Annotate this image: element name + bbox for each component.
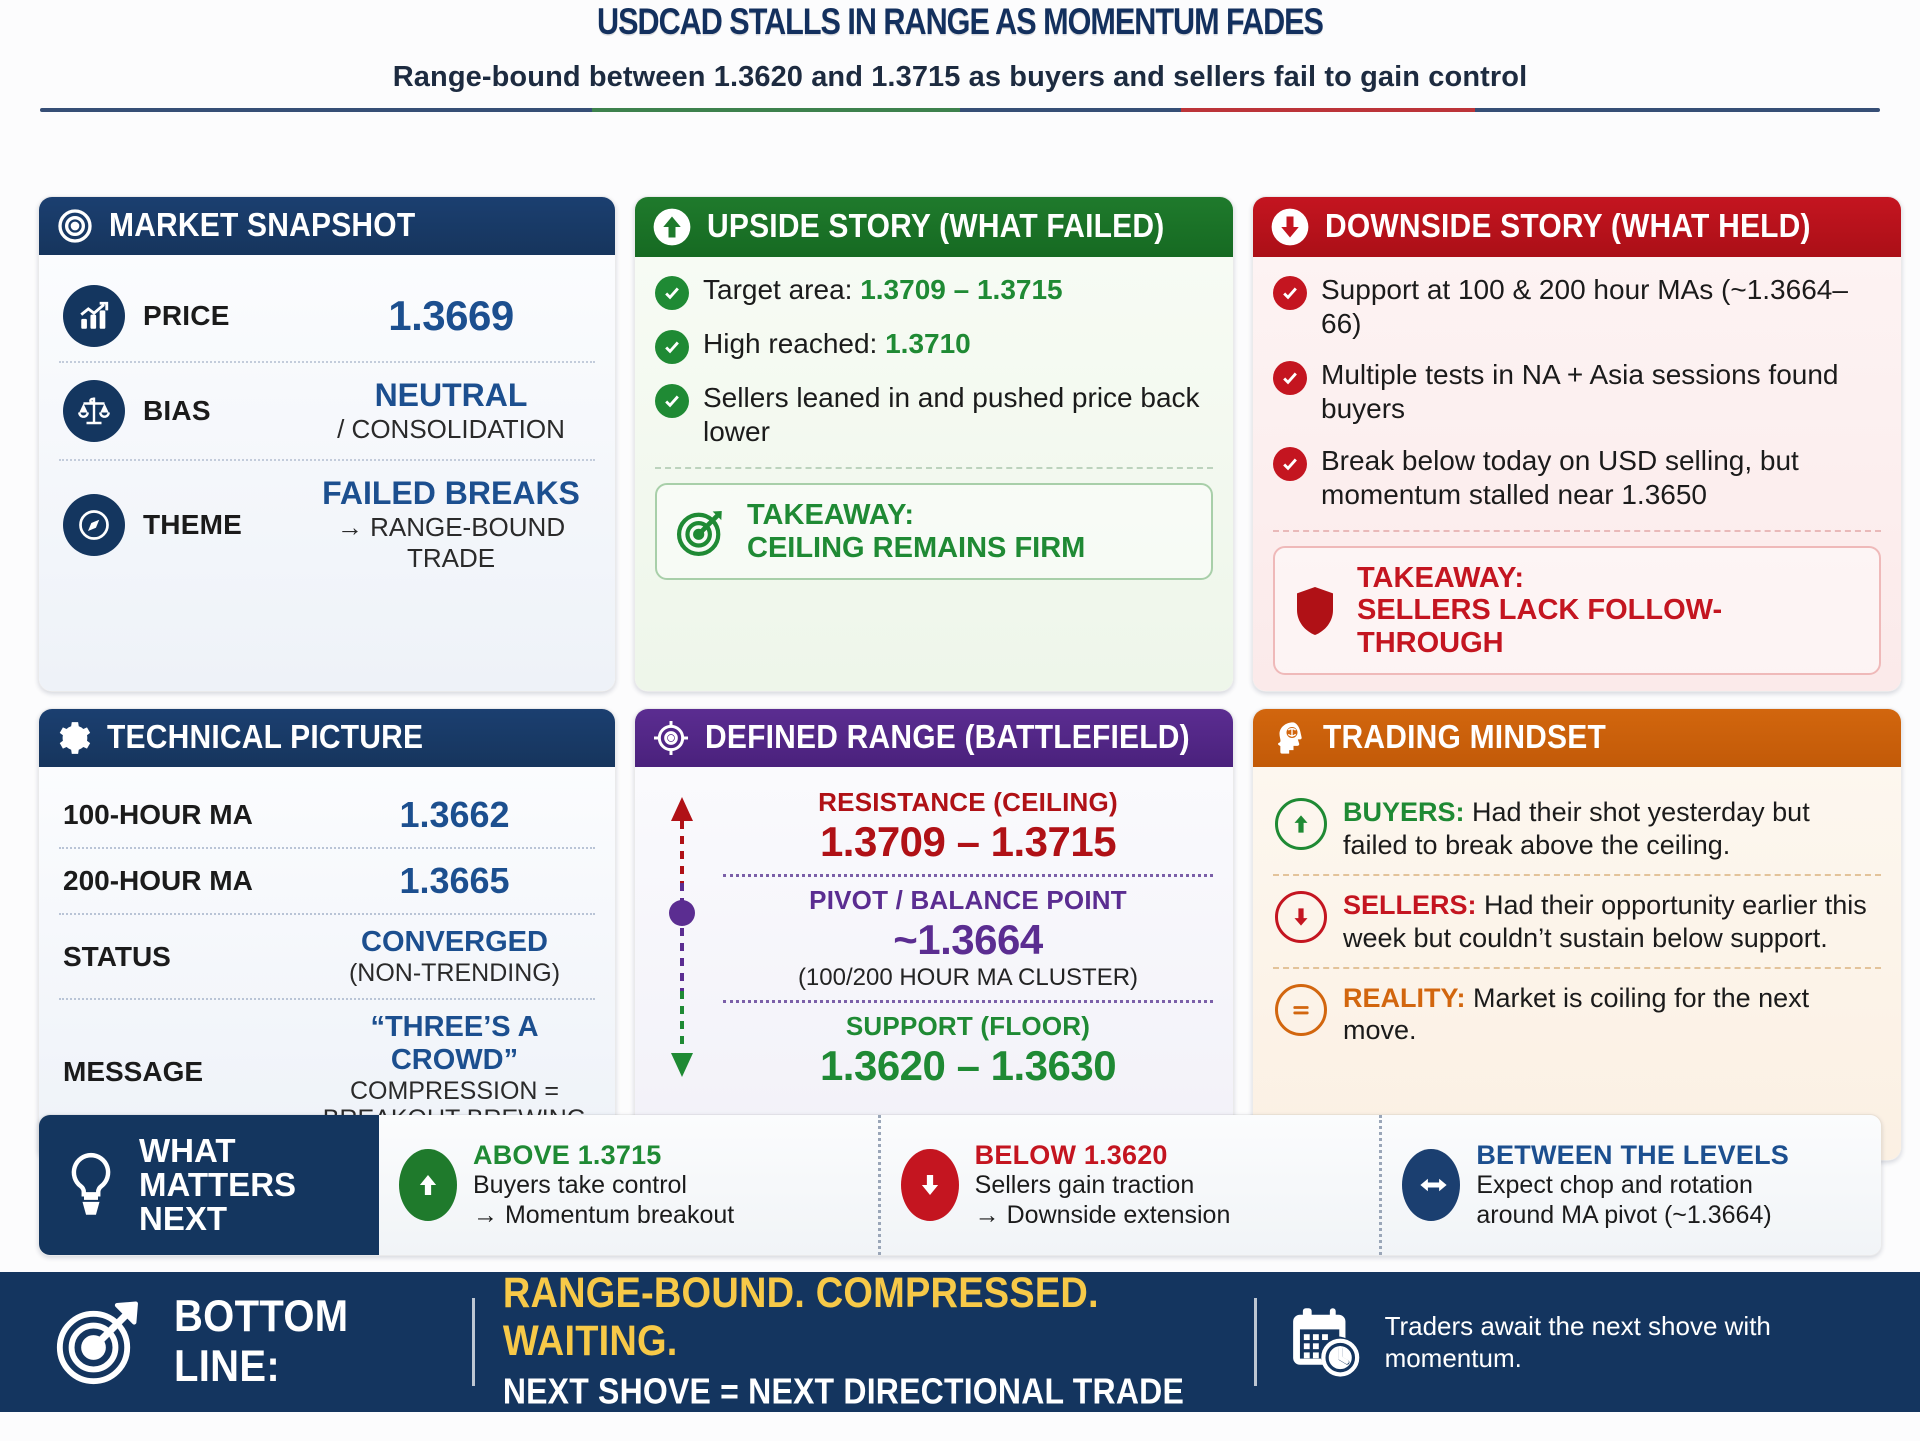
mindset-text-sellers: SELLERS: Had their opportunity earlier t…	[1343, 889, 1879, 954]
target-arrow-icon	[673, 504, 729, 560]
divider	[655, 467, 1213, 469]
row-key: STATUS	[63, 941, 318, 973]
card-downside-story: DOWNSIDE STORY (WHAT HELD) Support at 10…	[1252, 196, 1902, 692]
range-axis	[655, 787, 709, 1090]
wmn-item-below: BELOW 1.3620 Sellers gain traction → Dow…	[878, 1115, 1380, 1255]
list-item: Break below today on USD selling, but mo…	[1273, 444, 1881, 512]
what-matters-next-items: ABOVE 1.3715 Buyers take control → Momen…	[379, 1115, 1881, 1255]
card-title-trading-mindset: TRADING MINDSET	[1323, 720, 1606, 757]
arrow-down-icon	[1275, 891, 1327, 943]
card-title-defined-range: DEFINED RANGE (BATTLEFIELD)	[705, 720, 1190, 757]
row-value: CONVERGED (NON-TRENDING)	[318, 926, 591, 987]
bias-value: NEUTRAL	[311, 377, 591, 414]
bottom-line-main: RANGE-BOUND. COMPRESSED. WAITING. NEXT S…	[503, 1275, 1226, 1410]
check-icon	[1273, 276, 1307, 310]
list-item-text: Target area: 1.3709 – 1.3715	[703, 273, 1063, 307]
range-resistance: RESISTANCE (CEILING) 1.3709 – 1.3715	[723, 787, 1213, 866]
card-header-defined-range: DEFINED RANGE (BATTLEFIELD)	[635, 709, 1233, 767]
shield-icon	[1291, 584, 1339, 638]
bottom-line-note: Traders await the next shove with moment…	[1385, 1310, 1868, 1375]
bottom-line-label: BOTTOM LINE:	[174, 1292, 444, 1393]
arrow-down-circle-icon	[1269, 206, 1311, 248]
card-body-trading-mindset: BUYERS: Had their shot yesterday but fai…	[1253, 767, 1901, 1160]
card-technical-picture: TECHNICAL PICTURE 100-HOUR MA 1.3662 200…	[38, 708, 616, 1161]
snapshot-label-theme: THEME	[143, 509, 293, 541]
card-body-technical-picture: 100-HOUR MA 1.3662 200-HOUR MA 1.3665 ST…	[39, 767, 615, 1160]
infographic-root: USDCAD STALLS IN RANGE AS MOMENTUM FADES…	[0, 0, 1920, 1441]
mindset-text-buyers: BUYERS: Had their shot yesterday but fai…	[1343, 796, 1879, 861]
check-icon	[1273, 361, 1307, 395]
row-key: 100-HOUR MA	[63, 799, 318, 831]
bar-chart-icon	[63, 285, 125, 347]
table-row: 200-HOUR MA 1.3665	[59, 847, 595, 913]
list-item: Multiple tests in NA + Asia sessions fou…	[1273, 358, 1881, 426]
target-icon	[55, 206, 95, 246]
snapshot-label-bias: BIAS	[143, 395, 293, 427]
card-header-technical-picture: TECHNICAL PICTURE	[39, 709, 615, 767]
card-title-technical-picture: TECHNICAL PICTURE	[107, 720, 423, 757]
upside-takeaway: TAKEAWAY: CEILING REMAINS FIRM	[655, 483, 1213, 580]
snapshot-value-bias: NEUTRAL / CONSOLIDATION	[311, 377, 591, 445]
bias-sub: / CONSOLIDATION	[311, 414, 591, 445]
check-icon	[1273, 447, 1307, 481]
mindset-row-reality: REALITY: Market is coiling for the next …	[1273, 967, 1881, 1060]
mindset-row-buyers: BUYERS: Had their shot yesterday but fai…	[1273, 783, 1881, 874]
snapshot-value-theme: FAILED BREAKS → RANGE-BOUND TRADE	[311, 475, 591, 574]
snapshot-value-price: 1.3669	[311, 292, 591, 340]
downside-takeaway-text: TAKEAWAY: SELLERS LACK FOLLOW-THROUGH	[1357, 562, 1863, 659]
check-icon	[655, 384, 689, 418]
list-item-text: Break below today on USD selling, but mo…	[1321, 444, 1881, 512]
card-title-market-snapshot: MARKET SNAPSHOT	[109, 207, 415, 244]
card-body-market-snapshot: PRICE 1.3669 BIAS NEU	[39, 255, 615, 691]
table-row: STATUS CONVERGED (NON-TRENDING)	[59, 913, 595, 998]
mindset-text-reality: REALITY: Market is coiling for the next …	[1343, 982, 1879, 1047]
calendar-clock-icon	[1285, 1303, 1363, 1381]
wmn-item-text: BELOW 1.3620 Sellers gain traction → Dow…	[975, 1140, 1231, 1230]
arrows-left-right-icon	[1402, 1149, 1460, 1221]
page-subtitle: Range-bound between 1.3620 and 1.3715 as…	[0, 61, 1920, 94]
check-icon	[655, 276, 689, 310]
divider	[472, 1298, 475, 1386]
bottom-line-bar: BOTTOM LINE: RANGE-BOUND. COMPRESSED. WA…	[0, 1272, 1920, 1412]
card-trading-mindset: TRADING MINDSET BUYERS: Had their shot y…	[1252, 708, 1902, 1161]
arrow-up-icon	[399, 1149, 457, 1221]
upside-bullet-list: Target area: 1.3709 – 1.3715 High reache…	[655, 273, 1213, 449]
head-brain-icon	[1269, 718, 1309, 758]
range-pivot: PIVOT / BALANCE POINT ~1.3664 (100/200 H…	[723, 885, 1213, 992]
snapshot-row-price: PRICE 1.3669	[59, 271, 595, 361]
wmn-item-text: ABOVE 1.3715 Buyers take control → Momen…	[473, 1140, 734, 1230]
arrow-up-icon	[1275, 798, 1327, 850]
header-divider	[40, 108, 1880, 112]
takeaway-label: TAKEAWAY:	[747, 499, 1085, 531]
header: USDCAD STALLS IN RANGE AS MOMENTUM FADES…	[0, 0, 1920, 112]
row-key: MESSAGE	[63, 1056, 318, 1088]
takeaway-label: TAKEAWAY:	[1357, 562, 1863, 594]
snapshot-row-bias: BIAS NEUTRAL / CONSOLIDATION	[59, 361, 595, 459]
divider	[1273, 530, 1881, 532]
card-body-downside-story: Support at 100 & 200 hour MAs (~1.3664–6…	[1253, 257, 1901, 691]
row-value: 1.3662	[318, 794, 591, 836]
card-header-market-snapshot: MARKET SNAPSHOT	[39, 197, 615, 255]
check-icon	[655, 330, 689, 364]
card-body-defined-range: RESISTANCE (CEILING) 1.3709 – 1.3715 PIV…	[635, 767, 1233, 1160]
divider	[723, 874, 1213, 877]
target-area-value: 1.3709 – 1.3715	[860, 274, 1062, 305]
card-title-downside-story: DOWNSIDE STORY (WHAT HELD)	[1325, 208, 1811, 245]
what-matters-next-title: WHAT MATTERS NEXT	[139, 1134, 296, 1237]
divider	[723, 1000, 1213, 1003]
snapshot-row-theme: THEME FAILED BREAKS → RANGE-BOUND TRADE	[59, 459, 595, 588]
card-upside-story: UPSIDE STORY (WHAT FAILED) Target area: …	[634, 196, 1234, 692]
theme-sub: → RANGE-BOUND TRADE	[311, 512, 591, 574]
equals-icon	[1275, 984, 1327, 1036]
list-item-text: Sellers leaned in and pushed price back …	[703, 381, 1213, 449]
snapshot-label-price: PRICE	[143, 300, 293, 332]
list-item: High reached: 1.3710	[655, 327, 1213, 364]
list-item-text: Support at 100 & 200 hour MAs (~1.3664–6…	[1321, 273, 1881, 341]
what-matters-next-bar: WHAT MATTERS NEXT ABOVE 1.3715 Buyers ta…	[38, 1114, 1882, 1256]
wmn-item-text: BETWEEN THE LEVELS Expect chop and rotat…	[1476, 1140, 1789, 1230]
bottom-line-primary: RANGE-BOUND. COMPRESSED. WAITING.	[503, 1269, 1226, 1365]
scales-icon	[63, 380, 125, 442]
page-title: USDCAD STALLS IN RANGE AS MOMENTUM FADES	[0, 6, 1920, 41]
wmn-item-between: BETWEEN THE LEVELS Expect chop and rotat…	[1379, 1115, 1881, 1255]
card-header-downside-story: DOWNSIDE STORY (WHAT HELD)	[1253, 197, 1901, 257]
downside-takeaway: TAKEAWAY: SELLERS LACK FOLLOW-THROUGH	[1273, 546, 1881, 675]
list-item-text: Multiple tests in NA + Asia sessions fou…	[1321, 358, 1881, 426]
card-header-upside-story: UPSIDE STORY (WHAT FAILED)	[635, 197, 1233, 257]
row-key: 200-HOUR MA	[63, 865, 318, 897]
compass-icon	[63, 494, 125, 556]
bottom-line-secondary: NEXT SHOVE = NEXT DIRECTIONAL TRADE	[503, 1370, 1226, 1411]
upside-takeaway-text: TAKEAWAY: CEILING REMAINS FIRM	[747, 499, 1085, 564]
card-header-trading-mindset: TRADING MINDSET	[1253, 709, 1901, 767]
wmn-item-above: ABOVE 1.3715 Buyers take control → Momen…	[379, 1115, 878, 1255]
lightbulb-icon	[63, 1148, 119, 1222]
range-levels: RESISTANCE (CEILING) 1.3709 – 1.3715 PIV…	[723, 787, 1213, 1090]
divider	[1254, 1298, 1257, 1386]
high-reached-value: 1.3710	[885, 328, 971, 359]
arrow-up-circle-icon	[651, 206, 693, 248]
list-item: Sellers leaned in and pushed price back …	[655, 381, 1213, 449]
takeaway-body: SELLERS LACK FOLLOW-THROUGH	[1357, 594, 1863, 659]
cards-grid: MARKET SNAPSHOT PRICE 1.3669	[38, 196, 1882, 1161]
crosshair-icon	[651, 718, 691, 758]
gear-icon	[55, 719, 93, 757]
list-item: Target area: 1.3709 – 1.3715	[655, 273, 1213, 310]
target-arrow-icon	[52, 1295, 146, 1389]
bottom-line-note-group: Traders await the next shove with moment…	[1285, 1303, 1868, 1381]
list-item: Support at 100 & 200 hour MAs (~1.3664–6…	[1273, 273, 1881, 341]
price-value: 1.3669	[388, 292, 513, 339]
card-title-upside-story: UPSIDE STORY (WHAT FAILED)	[707, 208, 1164, 245]
card-market-snapshot: MARKET SNAPSHOT PRICE 1.3669	[38, 196, 616, 692]
theme-value: FAILED BREAKS	[311, 475, 591, 512]
table-row: 100-HOUR MA 1.3662	[59, 783, 595, 847]
range-support: SUPPORT (FLOOR) 1.3620 – 1.3630	[723, 1011, 1213, 1090]
list-item-text: High reached: 1.3710	[703, 327, 971, 361]
card-defined-range: DEFINED RANGE (BATTLEFIELD)	[634, 708, 1234, 1161]
what-matters-next-label: WHAT MATTERS NEXT	[39, 1115, 379, 1255]
mindset-row-sellers: SELLERS: Had their opportunity earlier t…	[1273, 874, 1881, 967]
arrow-down-icon	[901, 1149, 959, 1221]
row-value: 1.3665	[318, 860, 591, 902]
downside-bullet-list: Support at 100 & 200 hour MAs (~1.3664–6…	[1273, 273, 1881, 512]
takeaway-body: CEILING REMAINS FIRM	[747, 532, 1085, 564]
card-body-upside-story: Target area: 1.3709 – 1.3715 High reache…	[635, 257, 1233, 691]
